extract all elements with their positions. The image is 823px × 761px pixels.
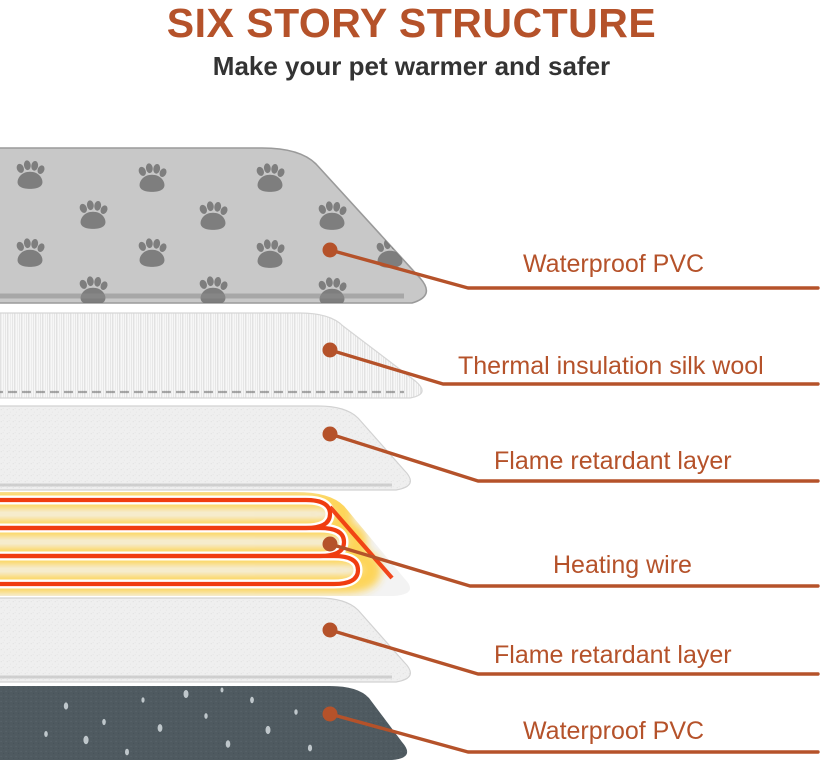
infographic-canvas: SIX STORY STRUCTURE Make your pet warmer…: [0, 0, 823, 761]
label-4: Heating wire: [553, 551, 692, 579]
label-text: Waterproof PVC: [523, 717, 704, 745]
leader-dot: [323, 243, 338, 258]
label-5: Flame retardant layer: [494, 641, 732, 669]
layer-6-waterproof-pvc: [0, 686, 407, 760]
label-text: Thermal insulation silk wool: [458, 352, 764, 380]
leader-dot: [323, 623, 338, 638]
layer-5-flame-retardant: [0, 598, 410, 682]
leader-dot: [323, 427, 338, 442]
label-text: Heating wire: [553, 551, 692, 579]
label-3: Flame retardant layer: [494, 447, 732, 475]
layer-3-flame-retardant: [0, 406, 410, 490]
label-2: Thermal insulation silk wool: [458, 352, 764, 380]
layer-4-heating-wire: [0, 492, 410, 596]
layer-1-waterproof-pvc: [0, 148, 426, 306]
leader-dot: [323, 707, 338, 722]
label-text: Flame retardant layer: [494, 447, 732, 475]
leader-dot: [323, 343, 338, 358]
label-text: Flame retardant layer: [494, 641, 732, 669]
leader-dot: [323, 537, 338, 552]
label-6: Waterproof PVC: [523, 717, 704, 745]
label-1: Waterproof PVC: [523, 250, 704, 278]
layer-2-silk-wool: [0, 313, 422, 398]
label-text: Waterproof PVC: [523, 250, 704, 278]
